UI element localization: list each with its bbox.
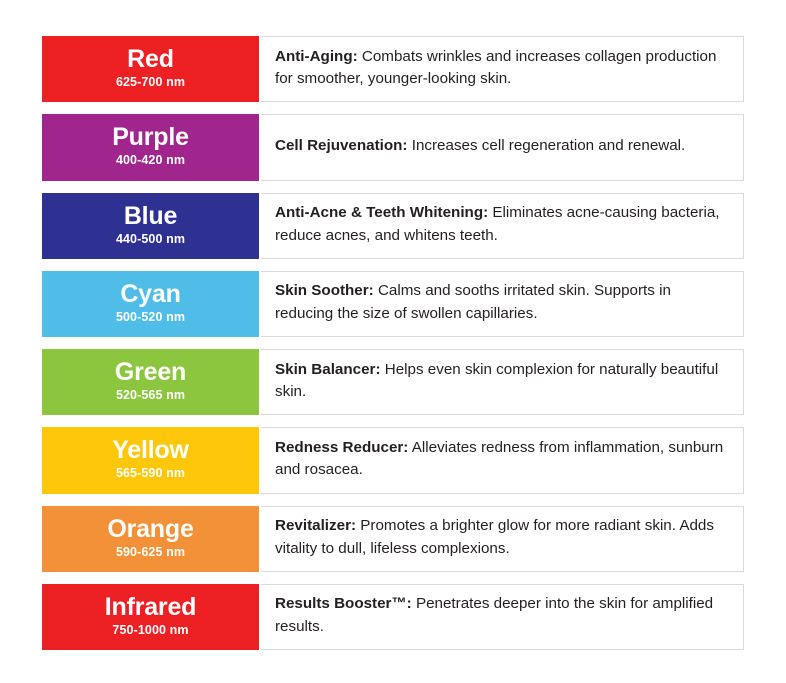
description-text: Anti-Acne & Teeth Whitening: Eliminates … bbox=[275, 202, 729, 247]
light-therapy-color-chart: Red 625-700 nm Anti-Aging: Combats wrink… bbox=[0, 0, 786, 683]
wavelength-range: 500-520 nm bbox=[116, 309, 185, 325]
description-box: Anti-Acne & Teeth Whitening: Eliminates … bbox=[261, 193, 744, 259]
color-name: Blue bbox=[124, 203, 177, 230]
color-swatch-cyan: Cyan 500-520 nm bbox=[42, 271, 259, 337]
wavelength-range: 520-565 nm bbox=[116, 387, 185, 403]
description-box: Results Booster™: Penetrates deeper into… bbox=[261, 584, 744, 650]
benefit-description: Increases cell regeneration and renewal. bbox=[412, 137, 686, 154]
color-swatch-blue: Blue 440-500 nm bbox=[42, 193, 259, 259]
color-name: Red bbox=[127, 46, 174, 73]
description-box: Cell Rejuvenation: Increases cell regene… bbox=[261, 114, 744, 180]
color-name: Orange bbox=[107, 516, 193, 543]
wavelength-range: 400-420 nm bbox=[116, 152, 185, 168]
description-text: Cell Rejuvenation: Increases cell regene… bbox=[275, 135, 685, 158]
benefit-label: Anti-Aging: bbox=[275, 48, 358, 65]
color-name: Purple bbox=[112, 124, 189, 151]
benefit-label: Results Booster™: bbox=[275, 595, 412, 612]
benefit-label: Skin Soother: bbox=[275, 282, 374, 299]
description-text: Results Booster™: Penetrates deeper into… bbox=[275, 593, 729, 638]
description-box: Revitalizer: Promotes a brighter glow fo… bbox=[261, 506, 744, 572]
table-row: Purple 400-420 nm Cell Rejuvenation: Inc… bbox=[42, 114, 744, 180]
wavelength-range: 625-700 nm bbox=[116, 74, 185, 90]
wavelength-range: 565-590 nm bbox=[116, 465, 185, 481]
description-box: Anti-Aging: Combats wrinkles and increas… bbox=[261, 36, 744, 102]
table-row: Yellow 565-590 nm Redness Reducer: Allev… bbox=[42, 427, 744, 493]
description-text: Redness Reducer: Alleviates redness from… bbox=[275, 437, 729, 482]
benefit-label: Anti-Acne & Teeth Whitening: bbox=[275, 204, 488, 221]
description-box: Skin Balancer: Helps even skin complexio… bbox=[261, 349, 744, 415]
color-name: Infrared bbox=[105, 594, 196, 621]
table-row: Red 625-700 nm Anti-Aging: Combats wrink… bbox=[42, 36, 744, 102]
color-swatch-orange: Orange 590-625 nm bbox=[42, 506, 259, 572]
wavelength-range: 440-500 nm bbox=[116, 231, 185, 247]
table-row: Orange 590-625 nm Revitalizer: Promotes … bbox=[42, 506, 744, 572]
description-text: Anti-Aging: Combats wrinkles and increas… bbox=[275, 46, 729, 91]
benefit-label: Revitalizer: bbox=[275, 517, 356, 534]
color-swatch-green: Green 520-565 nm bbox=[42, 349, 259, 415]
table-row: Infrared 750-1000 nm Results Booster™: P… bbox=[42, 584, 744, 650]
color-swatch-infrared: Infrared 750-1000 nm bbox=[42, 584, 259, 650]
table-row: Green 520-565 nm Skin Balancer: Helps ev… bbox=[42, 349, 744, 415]
color-swatch-purple: Purple 400-420 nm bbox=[42, 114, 259, 180]
color-name: Green bbox=[115, 359, 186, 386]
color-swatch-yellow: Yellow 565-590 nm bbox=[42, 427, 259, 493]
benefit-label: Redness Reducer: bbox=[275, 439, 408, 456]
benefit-label: Skin Balancer: bbox=[275, 361, 381, 378]
color-name: Cyan bbox=[120, 281, 180, 308]
wavelength-range: 590-625 nm bbox=[116, 544, 185, 560]
description-text: Skin Soother: Calms and sooths irritated… bbox=[275, 280, 729, 325]
description-text: Revitalizer: Promotes a brighter glow fo… bbox=[275, 515, 729, 560]
wavelength-range: 750-1000 nm bbox=[112, 622, 188, 638]
description-box: Redness Reducer: Alleviates redness from… bbox=[261, 427, 744, 493]
table-row: Blue 440-500 nm Anti-Acne & Teeth Whiten… bbox=[42, 193, 744, 259]
color-name: Yellow bbox=[112, 437, 189, 464]
description-text: Skin Balancer: Helps even skin complexio… bbox=[275, 359, 729, 404]
description-box: Skin Soother: Calms and sooths irritated… bbox=[261, 271, 744, 337]
benefit-label: Cell Rejuvenation: bbox=[275, 137, 408, 154]
table-row: Cyan 500-520 nm Skin Soother: Calms and … bbox=[42, 271, 744, 337]
color-swatch-red: Red 625-700 nm bbox=[42, 36, 259, 102]
